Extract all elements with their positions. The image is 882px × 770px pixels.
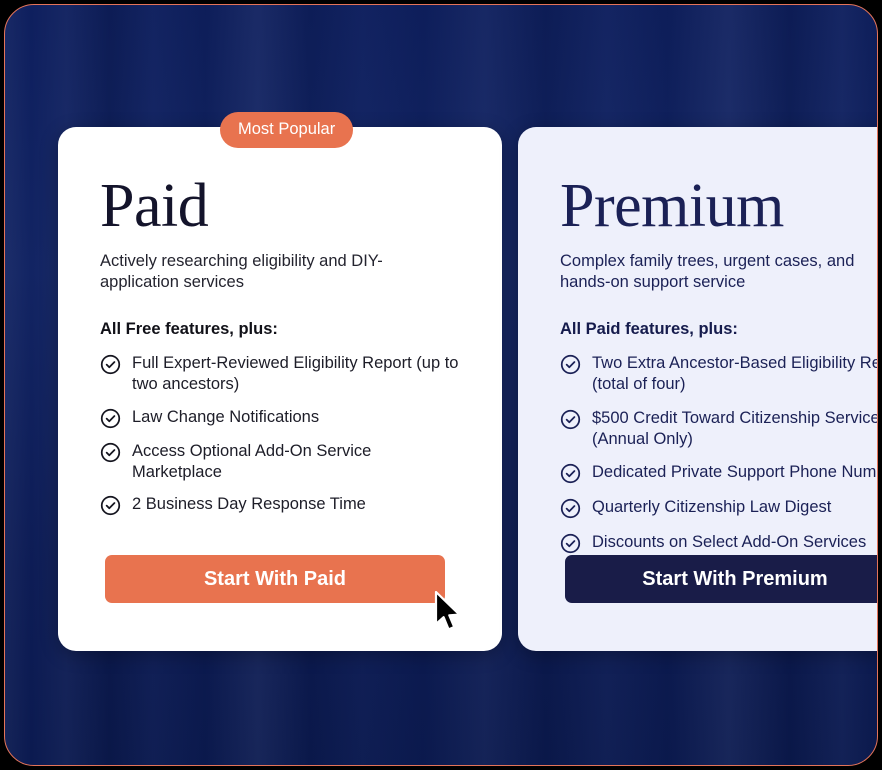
features-heading-premium: All Paid features, plus: <box>560 320 878 339</box>
list-item: 2 Business Day Response Time <box>100 494 460 516</box>
check-circle-icon <box>100 495 121 516</box>
pricing-page-canvas: Paid Actively researching eligibility an… <box>4 4 878 766</box>
screenshot-viewport: Paid Actively researching eligibility an… <box>0 0 882 770</box>
list-item: Quarterly Citizenship Law Digest <box>560 497 878 519</box>
start-with-paid-button[interactable]: Start With Paid <box>105 555 445 603</box>
check-circle-icon <box>560 498 581 519</box>
feature-list-paid: Full Expert-Reviewed Eligibility Report … <box>100 353 460 516</box>
most-popular-badge: Most Popular <box>220 112 353 148</box>
check-circle-icon <box>100 354 121 375</box>
list-item: Dedicated Private Support Phone Number <box>560 462 878 484</box>
list-item: Full Expert-Reviewed Eligibility Report … <box>100 353 460 395</box>
start-with-premium-button[interactable]: Start With Premium <box>565 555 878 603</box>
feature-label: Dedicated Private Support Phone Number <box>592 462 878 483</box>
check-circle-icon <box>100 442 121 463</box>
pricing-card-premium[interactable]: Premium Complex family trees, urgent cas… <box>518 127 878 651</box>
feature-label: 2 Business Day Response Time <box>132 494 366 515</box>
check-circle-icon <box>560 354 581 375</box>
check-circle-icon <box>100 408 121 429</box>
features-heading-paid: All Free features, plus: <box>100 320 460 339</box>
feature-label: Two Extra Ancestor-Based Eligibility Rep… <box>592 353 878 395</box>
plan-title-paid: Paid <box>100 175 460 237</box>
list-item: Law Change Notifications <box>100 407 460 429</box>
pricing-card-paid-body: Paid Actively researching eligibility an… <box>58 127 502 651</box>
list-item: Access Optional Add-On Service Marketpla… <box>100 441 460 483</box>
pricing-card-paid[interactable]: Paid Actively researching eligibility an… <box>58 127 502 651</box>
list-item: Two Extra Ancestor-Based Eligibility Rep… <box>560 353 878 395</box>
check-circle-icon <box>560 409 581 430</box>
feature-label: $500 Credit Toward Citizenship Services … <box>592 408 878 450</box>
plan-title-premium: Premium <box>560 175 878 237</box>
feature-label: Full Expert-Reviewed Eligibility Report … <box>132 353 460 395</box>
feature-label: Quarterly Citizenship Law Digest <box>592 497 831 518</box>
feature-label: Law Change Notifications <box>132 407 319 428</box>
plan-subtitle-premium: Complex family trees, urgent cases, and … <box>560 251 878 293</box>
plan-subtitle-paid: Actively researching eligibility and DIY… <box>100 251 420 293</box>
check-circle-icon <box>560 533 581 554</box>
check-circle-icon <box>560 463 581 484</box>
list-item: $500 Credit Toward Citizenship Services … <box>560 408 878 450</box>
feature-label: Discounts on Select Add-On Services <box>592 532 866 553</box>
feature-list-premium: Two Extra Ancestor-Based Eligibility Rep… <box>560 353 878 554</box>
feature-label: Access Optional Add-On Service Marketpla… <box>132 441 460 483</box>
pricing-card-premium-body: Premium Complex family trees, urgent cas… <box>518 127 878 651</box>
list-item: Discounts on Select Add-On Services <box>560 532 878 554</box>
